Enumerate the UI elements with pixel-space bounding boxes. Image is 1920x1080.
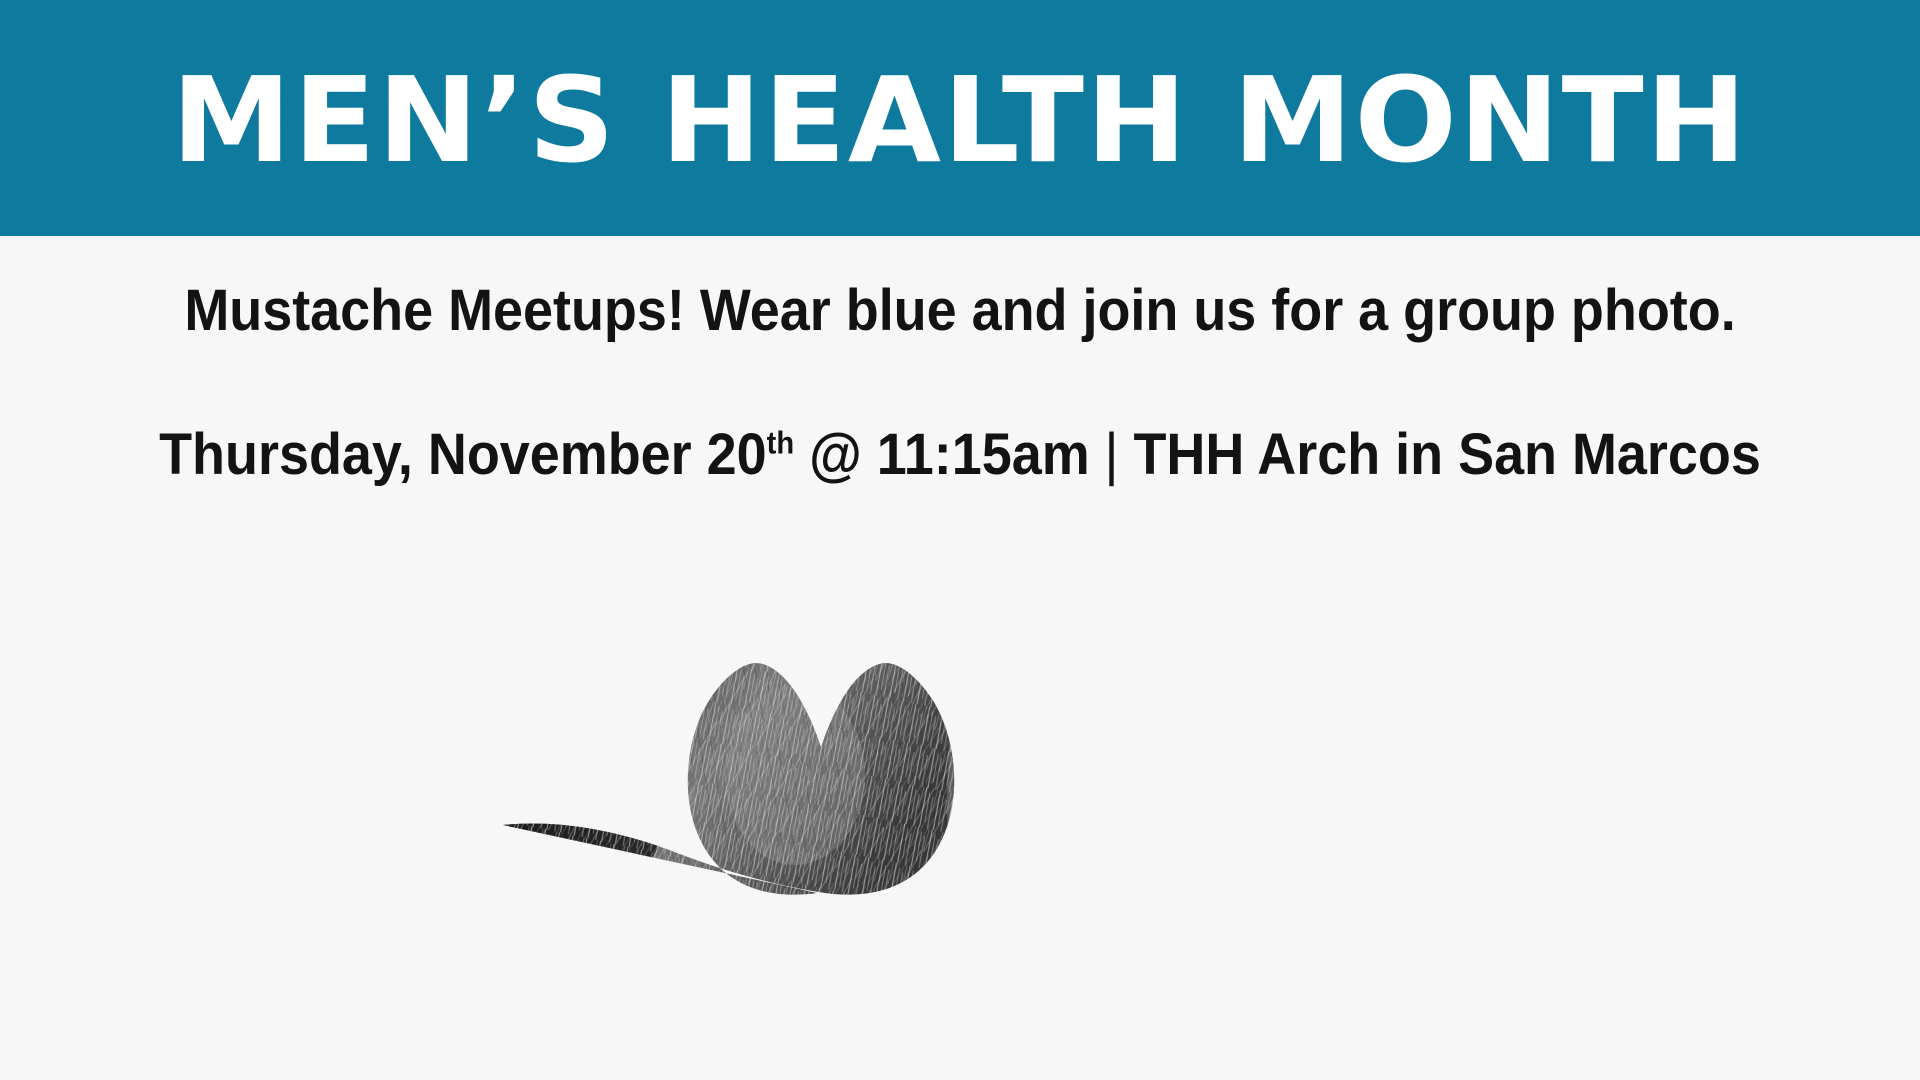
header-banner: MEN’S HEALTH MONTH	[0, 0, 1920, 236]
mustache-body	[495, 655, 1430, 905]
mustache-icon	[495, 655, 1430, 905]
event-time: @ 11:15am	[794, 422, 1090, 487]
page-title: MEN’S HEALTH MONTH	[171, 61, 1748, 179]
mustache-illustration	[495, 655, 1430, 905]
event-date-ordinal: th	[767, 426, 794, 461]
detail-separator: |	[1090, 426, 1134, 484]
tagline-text: Mustache Meetups! Wear blue and join us …	[67, 282, 1853, 340]
poster-canvas: MEN’S HEALTH MONTH Mustache Meetups! Wea…	[0, 0, 1920, 1080]
event-details-line: Thursday, November 20th @ 11:15am|THH Ar…	[67, 426, 1853, 484]
body-copy: Mustache Meetups! Wear blue and join us …	[0, 236, 1920, 484]
event-location: THH Arch in San Marcos	[1133, 422, 1760, 487]
event-date: Thursday, November 20	[159, 422, 767, 487]
